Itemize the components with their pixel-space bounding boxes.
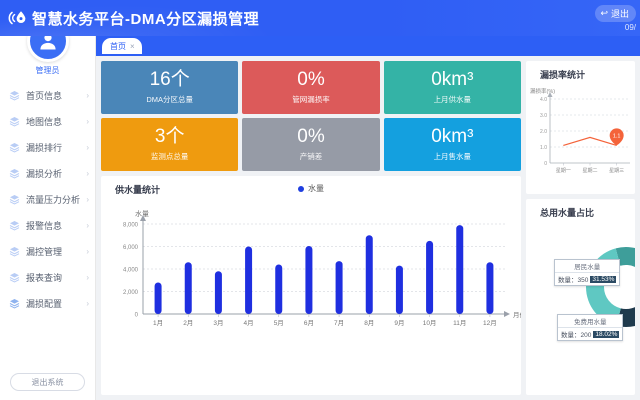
svg-text:月份: 月份 bbox=[513, 310, 521, 319]
sidebar-item-label: 报表查询 bbox=[26, 271, 86, 284]
app-root: 智慧水务平台-DMA分区漏损管理 ↩ 退出 09/ 首页 × 管理员 bbox=[0, 0, 640, 400]
sidebar-item-leak-control[interactable]: 漏控管理 › bbox=[0, 238, 95, 264]
tab-home-label: 首页 bbox=[110, 41, 126, 52]
kpi-value: 0% bbox=[297, 127, 324, 148]
svg-text:1.1: 1.1 bbox=[613, 133, 621, 139]
chart-title: 总用水量占比 bbox=[526, 199, 635, 219]
svg-text:4,000: 4,000 bbox=[123, 268, 139, 274]
sidebar-menu: 首页信息 › 地图信息 › 漏损排行 › 漏损 bbox=[0, 80, 95, 367]
kpi-label: 上月售水量 bbox=[434, 151, 472, 162]
pie-tooltip-title: 居民水量 bbox=[555, 260, 619, 273]
sidebar-item-label: 漏损排行 bbox=[26, 141, 86, 154]
sidebar-footer: 退出系统 bbox=[0, 367, 95, 400]
pie-tooltip-title: 免费用水量 bbox=[558, 315, 622, 328]
pie-tooltip-count: 数量：200 bbox=[561, 329, 591, 339]
sidebar-item-label: 流量压力分析 bbox=[26, 193, 86, 206]
layers-icon bbox=[9, 194, 20, 205]
kpi-last-month-supply[interactable]: 0km³ 上月供水量 bbox=[384, 61, 521, 114]
legend-label: 水量 bbox=[308, 183, 324, 194]
kpi-dma-zone-total[interactable]: 16个 DMA分区总量 bbox=[101, 61, 238, 114]
sidebar-item-label: 首页信息 bbox=[26, 89, 86, 102]
svg-text:1.0: 1.0 bbox=[540, 145, 547, 151]
tab-home[interactable]: 首页 × bbox=[102, 38, 142, 54]
kpi-monitor-point-total[interactable]: 3个 监测点总量 bbox=[101, 118, 238, 171]
sidebar-item-label: 漏损配置 bbox=[26, 297, 86, 310]
page-title: 智慧水务平台-DMA分区漏损管理 bbox=[32, 8, 259, 29]
header-right-actions: ↩ 退出 09/ bbox=[595, 5, 636, 32]
svg-text:5月: 5月 bbox=[274, 319, 284, 327]
water-drop-signal-icon bbox=[8, 8, 28, 28]
kpi-value: 0% bbox=[297, 70, 324, 91]
kpi-value: 3个 bbox=[155, 127, 185, 148]
chevron-right-icon: › bbox=[86, 221, 89, 230]
sidebar-item-map-info[interactable]: 地图信息 › bbox=[0, 108, 95, 134]
pie-tooltip-body: 数量：200 18.02% bbox=[558, 328, 622, 340]
chevron-right-icon: › bbox=[86, 143, 89, 152]
logout-button-label: 退出 bbox=[611, 7, 629, 20]
leakage-rate-chart-card: 漏损率统计 漏损率(%)01.02.03.04.0星期一星期二星期三1.1 bbox=[526, 61, 635, 194]
pie-tooltip-free: 免费用水量 数量：200 18.02% bbox=[557, 314, 623, 341]
svg-text:星期一: 星期一 bbox=[556, 168, 571, 174]
water-supply-bar-chart[interactable]: 水量02,0004,0006,0008,000月份1月2月3月4月5月6月7月8… bbox=[101, 196, 521, 346]
tab-strip: 首页 × bbox=[96, 36, 640, 56]
layers-icon bbox=[9, 168, 20, 179]
svg-text:9月: 9月 bbox=[394, 319, 404, 327]
layers-icon bbox=[9, 220, 20, 231]
sidebar-item-leakage-ranking[interactable]: 漏损排行 › bbox=[0, 134, 95, 160]
sidebar-item-label: 漏损分析 bbox=[26, 167, 86, 180]
logout-button[interactable]: ↩ 退出 bbox=[595, 5, 636, 22]
kpi-production-sales-gap[interactable]: 0% 产销差 bbox=[242, 118, 379, 171]
sidebar-item-label: 漏控管理 bbox=[26, 245, 86, 258]
pie-tooltip-count: 数量：350 bbox=[558, 274, 588, 284]
sidebar-item-report-query[interactable]: 报表查询 › bbox=[0, 264, 95, 290]
sidebar-user-block: 管理员 bbox=[0, 36, 95, 80]
svg-text:11月: 11月 bbox=[453, 319, 466, 327]
sidebar-item-leakage-analysis[interactable]: 漏损分析 › bbox=[0, 160, 95, 186]
kpi-label: 产销差 bbox=[300, 151, 323, 162]
layers-icon bbox=[9, 246, 20, 257]
header-date: 09/ bbox=[625, 23, 636, 32]
chevron-right-icon: › bbox=[86, 195, 89, 204]
svg-text:星期二: 星期二 bbox=[582, 168, 597, 174]
pie-tooltip-body: 数量：350 31.53% bbox=[555, 273, 619, 285]
app-header: 智慧水务平台-DMA分区漏损管理 ↩ 退出 09/ bbox=[0, 0, 640, 36]
sidebar-item-home-info[interactable]: 首页信息 › bbox=[0, 82, 95, 108]
pie-tooltip-percent: 18.02% bbox=[593, 331, 619, 338]
kpi-label: 上月供水量 bbox=[434, 94, 472, 105]
chevron-right-icon: › bbox=[86, 299, 89, 308]
layers-icon bbox=[9, 90, 20, 101]
svg-text:0: 0 bbox=[544, 161, 547, 167]
svg-text:3.0: 3.0 bbox=[540, 113, 547, 119]
right-column: 漏损率统计 漏损率(%)01.02.03.04.0星期一星期二星期三1.1 总用… bbox=[526, 61, 635, 395]
chevron-right-icon: › bbox=[86, 91, 89, 100]
logout-system-button[interactable]: 退出系统 bbox=[10, 373, 85, 391]
layers-icon bbox=[9, 272, 20, 283]
kpi-value: 0km³ bbox=[431, 127, 473, 148]
sidebar-item-leakage-config[interactable]: 漏损配置 › bbox=[0, 290, 95, 316]
kpi-value: 16个 bbox=[150, 70, 190, 91]
svg-text:2.0: 2.0 bbox=[540, 129, 547, 135]
svg-text:星期三: 星期三 bbox=[609, 168, 624, 174]
svg-text:8,000: 8,000 bbox=[123, 223, 139, 229]
sidebar-user-name: 管理员 bbox=[0, 65, 95, 76]
svg-text:10月: 10月 bbox=[423, 319, 437, 327]
sidebar: 管理员 首页信息 › 地图信息 › 漏损排行 bbox=[0, 36, 96, 400]
water-usage-pie-chart[interactable] bbox=[526, 219, 635, 369]
chevron-right-icon: › bbox=[86, 117, 89, 126]
layers-icon bbox=[9, 298, 20, 309]
svg-text:2月: 2月 bbox=[183, 319, 193, 327]
kpi-last-month-sold[interactable]: 0km³ 上月售水量 bbox=[384, 118, 521, 171]
pie-tooltip-percent: 31.53% bbox=[590, 276, 616, 283]
svg-text:12月: 12月 bbox=[483, 319, 497, 327]
kpi-network-leakage-rate[interactable]: 0% 管网漏损率 bbox=[242, 61, 379, 114]
main-content: 16个 DMA分区总量 0% 管网漏损率 0km³ 上月供水量 3个 监测点总量… bbox=[96, 56, 640, 400]
sidebar-item-label: 报警信息 bbox=[26, 219, 86, 232]
sidebar-item-alarm-info[interactable]: 报警信息 › bbox=[0, 212, 95, 238]
kpi-label: 管网漏损率 bbox=[292, 94, 330, 105]
layers-icon bbox=[9, 142, 20, 153]
leakage-rate-line-chart[interactable]: 漏损率(%)01.02.03.04.0星期一星期二星期三1.1 bbox=[526, 81, 635, 189]
svg-text:8月: 8月 bbox=[364, 319, 374, 327]
sidebar-item-label: 地图信息 bbox=[26, 115, 86, 128]
svg-text:7月: 7月 bbox=[334, 319, 344, 327]
chart-title: 漏损率统计 bbox=[526, 61, 635, 81]
svg-text:3月: 3月 bbox=[213, 319, 223, 327]
kpi-value: 0km³ bbox=[431, 70, 473, 91]
kpi-label: DMA分区总量 bbox=[146, 94, 193, 105]
svg-text:4.0: 4.0 bbox=[540, 97, 547, 103]
layers-icon bbox=[9, 116, 20, 127]
svg-text:4月: 4月 bbox=[244, 319, 254, 327]
legend-color-swatch bbox=[298, 186, 304, 192]
sidebar-item-flow-pressure-analysis[interactable]: 流量压力分析 › bbox=[0, 186, 95, 212]
pie-tooltip-resident: 居民水量 数量：350 31.53% bbox=[554, 259, 620, 286]
close-icon[interactable]: × bbox=[130, 42, 135, 51]
svg-text:漏损率(%): 漏损率(%) bbox=[530, 87, 555, 95]
chevron-right-icon: › bbox=[86, 247, 89, 256]
kpi-grid: 16个 DMA分区总量 0% 管网漏损率 0km³ 上月供水量 3个 监测点总量… bbox=[101, 61, 521, 171]
svg-text:0: 0 bbox=[135, 313, 139, 319]
back-arrow-icon: ↩ bbox=[600, 9, 608, 18]
left-column: 16个 DMA分区总量 0% 管网漏损率 0km³ 上月供水量 3个 监测点总量… bbox=[101, 61, 521, 395]
svg-text:水量: 水量 bbox=[135, 209, 149, 218]
svg-text:6,000: 6,000 bbox=[123, 245, 139, 251]
water-usage-pie-card: 总用水量占比 居民水量 数量：350 31.53% 免费用水量 数量：200 1… bbox=[526, 199, 635, 395]
kpi-label: 监测点总量 bbox=[151, 151, 189, 162]
svg-text:1月: 1月 bbox=[153, 319, 163, 327]
chevron-right-icon: › bbox=[86, 273, 89, 282]
svg-text:6月: 6月 bbox=[304, 319, 314, 327]
chevron-right-icon: › bbox=[86, 169, 89, 178]
svg-text:2,000: 2,000 bbox=[123, 290, 139, 296]
chart-legend[interactable]: 水量 bbox=[101, 183, 521, 194]
water-supply-chart-card: 供水量统计 水量 水量02,0004,0006,0008,000月份1月2月3月… bbox=[101, 176, 521, 395]
